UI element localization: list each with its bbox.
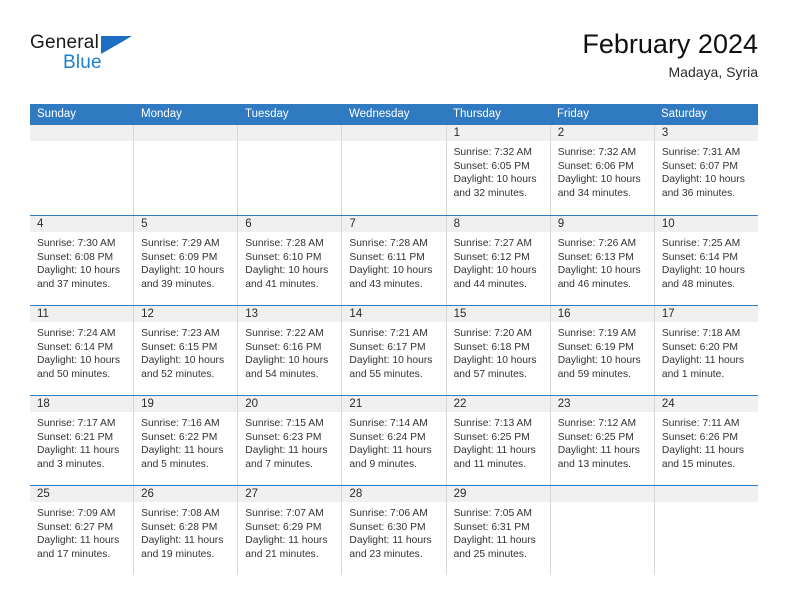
day-number: 7 xyxy=(342,216,445,233)
day-sun-info: Sunrise: 7:09 AMSunset: 6:27 PMDaylight:… xyxy=(30,503,133,561)
sunrise-text: Sunrise: 7:26 AM xyxy=(558,237,648,251)
title-block: February 2024 Madaya, Syria xyxy=(582,28,758,82)
day-number: 26 xyxy=(134,486,237,503)
day-number-band: 3 xyxy=(655,125,758,142)
day-cell[interactable]: 19Sunrise: 7:16 AMSunset: 6:22 PMDayligh… xyxy=(134,396,238,485)
day-number: 1 xyxy=(447,125,550,142)
logo-triangle-icon xyxy=(101,36,132,54)
day-cell[interactable]: 2Sunrise: 7:32 AMSunset: 6:06 PMDaylight… xyxy=(551,125,655,215)
daylight-text-line1: Daylight: 11 hours xyxy=(662,354,752,368)
day-number-band xyxy=(551,486,654,503)
day-number-band: 6 xyxy=(238,216,341,233)
sunrise-text: Sunrise: 7:22 AM xyxy=(245,327,335,341)
day-cell[interactable]: 16Sunrise: 7:19 AMSunset: 6:19 PMDayligh… xyxy=(551,306,655,395)
daylight-text-line1: Daylight: 10 hours xyxy=(558,264,648,278)
day-cell-empty xyxy=(134,125,238,215)
day-number: 28 xyxy=(342,486,445,503)
calendar-weeks: 1Sunrise: 7:32 AMSunset: 6:05 PMDaylight… xyxy=(30,125,758,575)
sunrise-text: Sunrise: 7:30 AM xyxy=(37,237,127,251)
day-sun-info: Sunrise: 7:22 AMSunset: 6:16 PMDaylight:… xyxy=(238,323,341,381)
day-number-band xyxy=(134,125,237,142)
day-number: 24 xyxy=(655,396,758,413)
sunset-text: Sunset: 6:17 PM xyxy=(349,341,439,355)
sunrise-text: Sunrise: 7:31 AM xyxy=(662,146,752,160)
sunrise-text: Sunrise: 7:15 AM xyxy=(245,417,335,431)
sunset-text: Sunset: 6:16 PM xyxy=(245,341,335,355)
day-cell-empty xyxy=(342,125,446,215)
daylight-text-line1: Daylight: 11 hours xyxy=(37,444,127,458)
daylight-text-line1: Daylight: 10 hours xyxy=(141,264,231,278)
daylight-text-line2: and 52 minutes. xyxy=(141,368,231,382)
sunset-text: Sunset: 6:24 PM xyxy=(349,431,439,445)
sunrise-text: Sunrise: 7:07 AM xyxy=(245,507,335,521)
day-number-band: 1 xyxy=(447,125,550,142)
calendar-week-row: 25Sunrise: 7:09 AMSunset: 6:27 PMDayligh… xyxy=(30,485,758,575)
daylight-text-line2: and 17 minutes. xyxy=(37,548,127,562)
sunrise-text: Sunrise: 7:18 AM xyxy=(662,327,752,341)
daylight-text-line1: Daylight: 11 hours xyxy=(558,444,648,458)
daylight-text-line2: and 46 minutes. xyxy=(558,278,648,292)
day-number: 19 xyxy=(134,396,237,413)
sunrise-text: Sunrise: 7:05 AM xyxy=(454,507,544,521)
daylight-text-line2: and 48 minutes. xyxy=(662,278,752,292)
daylight-text-line2: and 32 minutes. xyxy=(454,187,544,201)
daylight-text-line1: Daylight: 11 hours xyxy=(245,444,335,458)
daylight-text-line1: Daylight: 11 hours xyxy=(37,534,127,548)
day-number: 11 xyxy=(30,306,133,323)
day-sun-info: Sunrise: 7:15 AMSunset: 6:23 PMDaylight:… xyxy=(238,413,341,471)
day-number-band: 13 xyxy=(238,306,341,323)
day-sun-info: Sunrise: 7:28 AMSunset: 6:10 PMDaylight:… xyxy=(238,233,341,291)
day-cell[interactable]: 11Sunrise: 7:24 AMSunset: 6:14 PMDayligh… xyxy=(30,306,134,395)
day-cell[interactable]: 8Sunrise: 7:27 AMSunset: 6:12 PMDaylight… xyxy=(447,216,551,305)
daylight-text-line1: Daylight: 11 hours xyxy=(245,534,335,548)
sunrise-text: Sunrise: 7:28 AM xyxy=(349,237,439,251)
sunset-text: Sunset: 6:21 PM xyxy=(37,431,127,445)
daylight-text-line1: Daylight: 10 hours xyxy=(454,264,544,278)
day-number: 2 xyxy=(551,125,654,142)
day-cell[interactable]: 4Sunrise: 7:30 AMSunset: 6:08 PMDaylight… xyxy=(30,216,134,305)
day-cell[interactable]: 29Sunrise: 7:05 AMSunset: 6:31 PMDayligh… xyxy=(447,486,551,575)
day-number-band: 10 xyxy=(655,216,758,233)
sunset-text: Sunset: 6:06 PM xyxy=(558,160,648,174)
sunrise-text: Sunrise: 7:12 AM xyxy=(558,417,648,431)
daylight-text-line2: and 34 minutes. xyxy=(558,187,648,201)
sunrise-text: Sunrise: 7:14 AM xyxy=(349,417,439,431)
sunrise-text: Sunrise: 7:13 AM xyxy=(454,417,544,431)
day-number-band: 23 xyxy=(551,396,654,413)
logo-text-general: General xyxy=(30,32,99,54)
sunset-text: Sunset: 6:09 PM xyxy=(141,251,231,265)
day-number: 23 xyxy=(551,396,654,413)
sunrise-text: Sunrise: 7:08 AM xyxy=(141,507,231,521)
sunset-text: Sunset: 6:27 PM xyxy=(37,521,127,535)
daylight-text-line2: and 15 minutes. xyxy=(662,458,752,472)
daylight-text-line2: and 5 minutes. xyxy=(141,458,231,472)
sunset-text: Sunset: 6:30 PM xyxy=(349,521,439,535)
day-sun-info: Sunrise: 7:27 AMSunset: 6:12 PMDaylight:… xyxy=(447,233,550,291)
day-number-band: 26 xyxy=(134,486,237,503)
day-sun-info: Sunrise: 7:05 AMSunset: 6:31 PMDaylight:… xyxy=(447,503,550,561)
day-cell-empty xyxy=(238,125,342,215)
day-sun-info: Sunrise: 7:16 AMSunset: 6:22 PMDaylight:… xyxy=(134,413,237,471)
daylight-text-line1: Daylight: 11 hours xyxy=(141,534,231,548)
day-number-band: 20 xyxy=(238,396,341,413)
daylight-text-line2: and 36 minutes. xyxy=(662,187,752,201)
day-sun-info: Sunrise: 7:26 AMSunset: 6:13 PMDaylight:… xyxy=(551,233,654,291)
daylight-text-line2: and 37 minutes. xyxy=(37,278,127,292)
daylight-text-line1: Daylight: 10 hours xyxy=(245,354,335,368)
day-number: 18 xyxy=(30,396,133,413)
day-cell[interactable]: 22Sunrise: 7:13 AMSunset: 6:25 PMDayligh… xyxy=(447,396,551,485)
day-number-band: 12 xyxy=(134,306,237,323)
day-number: 4 xyxy=(30,216,133,233)
day-number-band: 29 xyxy=(447,486,550,503)
day-number: 25 xyxy=(30,486,133,503)
daylight-text-line1: Daylight: 10 hours xyxy=(141,354,231,368)
day-number: 5 xyxy=(134,216,237,233)
day-number-band: 24 xyxy=(655,396,758,413)
sunset-text: Sunset: 6:05 PM xyxy=(454,160,544,174)
daylight-text-line1: Daylight: 10 hours xyxy=(245,264,335,278)
daylight-text-line1: Daylight: 10 hours xyxy=(558,173,648,187)
day-cell[interactable]: 18Sunrise: 7:17 AMSunset: 6:21 PMDayligh… xyxy=(30,396,134,485)
day-cell[interactable]: 24Sunrise: 7:11 AMSunset: 6:26 PMDayligh… xyxy=(655,396,758,485)
daylight-text-line2: and 44 minutes. xyxy=(454,278,544,292)
day-number-band: 9 xyxy=(551,216,654,233)
logo-text-blue: Blue xyxy=(63,52,102,74)
day-cell[interactable]: 14Sunrise: 7:21 AMSunset: 6:17 PMDayligh… xyxy=(342,306,446,395)
day-sun-info: Sunrise: 7:07 AMSunset: 6:29 PMDaylight:… xyxy=(238,503,341,561)
day-cell[interactable]: 10Sunrise: 7:25 AMSunset: 6:14 PMDayligh… xyxy=(655,216,758,305)
day-sun-info: Sunrise: 7:11 AMSunset: 6:26 PMDaylight:… xyxy=(655,413,758,471)
day-number: 3 xyxy=(655,125,758,142)
daylight-text-line1: Daylight: 10 hours xyxy=(454,173,544,187)
weekday-header-wednesday: Wednesday xyxy=(342,104,446,125)
weekday-header-tuesday: Tuesday xyxy=(238,104,342,125)
sunset-text: Sunset: 6:23 PM xyxy=(245,431,335,445)
day-sun-info: Sunrise: 7:12 AMSunset: 6:25 PMDaylight:… xyxy=(551,413,654,471)
day-number: 9 xyxy=(551,216,654,233)
daylight-text-line2: and 50 minutes. xyxy=(37,368,127,382)
general-blue-logo[interactable]: General Blue xyxy=(30,32,160,84)
day-number: 21 xyxy=(342,396,445,413)
sunset-text: Sunset: 6:11 PM xyxy=(349,251,439,265)
daylight-text-line2: and 9 minutes. xyxy=(349,458,439,472)
daylight-text-line2: and 13 minutes. xyxy=(558,458,648,472)
day-cell[interactable]: 27Sunrise: 7:07 AMSunset: 6:29 PMDayligh… xyxy=(238,486,342,575)
day-sun-info: Sunrise: 7:30 AMSunset: 6:08 PMDaylight:… xyxy=(30,233,133,291)
day-number-band xyxy=(342,125,445,142)
day-cell[interactable]: 28Sunrise: 7:06 AMSunset: 6:30 PMDayligh… xyxy=(342,486,446,575)
day-number: 8 xyxy=(447,216,550,233)
day-cell[interactable]: 20Sunrise: 7:15 AMSunset: 6:23 PMDayligh… xyxy=(238,396,342,485)
sunset-text: Sunset: 6:14 PM xyxy=(37,341,127,355)
sunrise-text: Sunrise: 7:28 AM xyxy=(245,237,335,251)
day-cell[interactable]: 17Sunrise: 7:18 AMSunset: 6:20 PMDayligh… xyxy=(655,306,758,395)
day-sun-info: Sunrise: 7:31 AMSunset: 6:07 PMDaylight:… xyxy=(655,142,758,200)
day-cell[interactable]: 26Sunrise: 7:08 AMSunset: 6:28 PMDayligh… xyxy=(134,486,238,575)
sunrise-text: Sunrise: 7:19 AM xyxy=(558,327,648,341)
daylight-text-line2: and 19 minutes. xyxy=(141,548,231,562)
daylight-text-line1: Daylight: 10 hours xyxy=(558,354,648,368)
day-number-band: 7 xyxy=(342,216,445,233)
day-number: 12 xyxy=(134,306,237,323)
day-sun-info: Sunrise: 7:14 AMSunset: 6:24 PMDaylight:… xyxy=(342,413,445,471)
sunset-text: Sunset: 6:25 PM xyxy=(454,431,544,445)
daylight-text-line2: and 23 minutes. xyxy=(349,548,439,562)
day-sun-info: Sunrise: 7:24 AMSunset: 6:14 PMDaylight:… xyxy=(30,323,133,381)
daylight-text-line1: Daylight: 10 hours xyxy=(37,264,127,278)
day-sun-info: Sunrise: 7:32 AMSunset: 6:05 PMDaylight:… xyxy=(447,142,550,200)
day-number: 29 xyxy=(447,486,550,503)
day-number: 16 xyxy=(551,306,654,323)
sunrise-text: Sunrise: 7:09 AM xyxy=(37,507,127,521)
day-number-band: 19 xyxy=(134,396,237,413)
day-sun-info: Sunrise: 7:06 AMSunset: 6:30 PMDaylight:… xyxy=(342,503,445,561)
sunset-text: Sunset: 6:19 PM xyxy=(558,341,648,355)
sunset-text: Sunset: 6:25 PM xyxy=(558,431,648,445)
day-sun-info: Sunrise: 7:29 AMSunset: 6:09 PMDaylight:… xyxy=(134,233,237,291)
day-cell[interactable]: 13Sunrise: 7:22 AMSunset: 6:16 PMDayligh… xyxy=(238,306,342,395)
sunrise-text: Sunrise: 7:11 AM xyxy=(662,417,752,431)
day-sun-info: Sunrise: 7:28 AMSunset: 6:11 PMDaylight:… xyxy=(342,233,445,291)
sunset-text: Sunset: 6:07 PM xyxy=(662,160,752,174)
day-number-band: 21 xyxy=(342,396,445,413)
daylight-text-line2: and 1 minute. xyxy=(662,368,752,382)
day-number-band: 2 xyxy=(551,125,654,142)
sunset-text: Sunset: 6:15 PM xyxy=(141,341,231,355)
sunset-text: Sunset: 6:18 PM xyxy=(454,341,544,355)
day-sun-info: Sunrise: 7:18 AMSunset: 6:20 PMDaylight:… xyxy=(655,323,758,381)
sunrise-text: Sunrise: 7:25 AM xyxy=(662,237,752,251)
sunrise-text: Sunrise: 7:29 AM xyxy=(141,237,231,251)
weekday-header-monday: Monday xyxy=(134,104,238,125)
calendar-week-row: 1Sunrise: 7:32 AMSunset: 6:05 PMDaylight… xyxy=(30,125,758,215)
day-number: 20 xyxy=(238,396,341,413)
day-number-band: 16 xyxy=(551,306,654,323)
daylight-text-line2: and 11 minutes. xyxy=(454,458,544,472)
calendar-week-row: 11Sunrise: 7:24 AMSunset: 6:14 PMDayligh… xyxy=(30,305,758,395)
sunrise-text: Sunrise: 7:16 AM xyxy=(141,417,231,431)
day-number-band: 8 xyxy=(447,216,550,233)
daylight-text-line1: Daylight: 11 hours xyxy=(349,534,439,548)
day-number: 15 xyxy=(447,306,550,323)
daylight-text-line1: Daylight: 10 hours xyxy=(349,354,439,368)
daylight-text-line2: and 55 minutes. xyxy=(349,368,439,382)
calendar-grid: Sunday Monday Tuesday Wednesday Thursday… xyxy=(30,104,758,575)
daylight-text-line2: and 3 minutes. xyxy=(37,458,127,472)
day-sun-info: Sunrise: 7:32 AMSunset: 6:06 PMDaylight:… xyxy=(551,142,654,200)
day-sun-info: Sunrise: 7:13 AMSunset: 6:25 PMDaylight:… xyxy=(447,413,550,471)
weekday-header-sunday: Sunday xyxy=(30,104,134,125)
daylight-text-line2: and 54 minutes. xyxy=(245,368,335,382)
daylight-text-line2: and 41 minutes. xyxy=(245,278,335,292)
sunset-text: Sunset: 6:29 PM xyxy=(245,521,335,535)
day-number: 17 xyxy=(655,306,758,323)
calendar-page: General Blue February 2024 Madaya, Syria… xyxy=(0,0,792,612)
page-title: February 2024 xyxy=(582,28,758,60)
day-number-band: 18 xyxy=(30,396,133,413)
sunrise-text: Sunrise: 7:21 AM xyxy=(349,327,439,341)
sunset-text: Sunset: 6:08 PM xyxy=(37,251,127,265)
daylight-text-line2: and 43 minutes. xyxy=(349,278,439,292)
day-number-band: 5 xyxy=(134,216,237,233)
sunrise-text: Sunrise: 7:06 AM xyxy=(349,507,439,521)
daylight-text-line2: and 59 minutes. xyxy=(558,368,648,382)
day-cell[interactable]: 6Sunrise: 7:28 AMSunset: 6:10 PMDaylight… xyxy=(238,216,342,305)
day-cell[interactable]: 5Sunrise: 7:29 AMSunset: 6:09 PMDaylight… xyxy=(134,216,238,305)
day-number: 13 xyxy=(238,306,341,323)
day-number-band xyxy=(238,125,341,142)
sunrise-text: Sunrise: 7:23 AM xyxy=(141,327,231,341)
sunset-text: Sunset: 6:12 PM xyxy=(454,251,544,265)
sunset-text: Sunset: 6:13 PM xyxy=(558,251,648,265)
daylight-text-line2: and 7 minutes. xyxy=(245,458,335,472)
day-cell[interactable]: 25Sunrise: 7:09 AMSunset: 6:27 PMDayligh… xyxy=(30,486,134,575)
day-number-band: 15 xyxy=(447,306,550,323)
day-cell[interactable]: 3Sunrise: 7:31 AMSunset: 6:07 PMDaylight… xyxy=(655,125,758,215)
sunrise-text: Sunrise: 7:32 AM xyxy=(454,146,544,160)
day-sun-info: Sunrise: 7:21 AMSunset: 6:17 PMDaylight:… xyxy=(342,323,445,381)
sunrise-text: Sunrise: 7:27 AM xyxy=(454,237,544,251)
day-number-band xyxy=(655,486,758,503)
day-sun-info: Sunrise: 7:23 AMSunset: 6:15 PMDaylight:… xyxy=(134,323,237,381)
sunrise-text: Sunrise: 7:17 AM xyxy=(37,417,127,431)
day-sun-info: Sunrise: 7:20 AMSunset: 6:18 PMDaylight:… xyxy=(447,323,550,381)
day-number: 22 xyxy=(447,396,550,413)
sunset-text: Sunset: 6:14 PM xyxy=(662,251,752,265)
weekday-header-saturday: Saturday xyxy=(654,104,758,125)
day-number-band: 17 xyxy=(655,306,758,323)
sunrise-text: Sunrise: 7:32 AM xyxy=(558,146,648,160)
day-number-band: 28 xyxy=(342,486,445,503)
day-number-band: 22 xyxy=(447,396,550,413)
day-cell-empty xyxy=(30,125,134,215)
day-cell[interactable]: 23Sunrise: 7:12 AMSunset: 6:25 PMDayligh… xyxy=(551,396,655,485)
day-sun-info: Sunrise: 7:25 AMSunset: 6:14 PMDaylight:… xyxy=(655,233,758,291)
daylight-text-line2: and 25 minutes. xyxy=(454,548,544,562)
daylight-text-line1: Daylight: 10 hours xyxy=(37,354,127,368)
day-number-band xyxy=(30,125,133,142)
daylight-text-line1: Daylight: 10 hours xyxy=(662,264,752,278)
daylight-text-line1: Daylight: 10 hours xyxy=(662,173,752,187)
daylight-text-line1: Daylight: 11 hours xyxy=(349,444,439,458)
calendar-week-row: 4Sunrise: 7:30 AMSunset: 6:08 PMDaylight… xyxy=(30,215,758,305)
daylight-text-line1: Daylight: 11 hours xyxy=(454,444,544,458)
sunset-text: Sunset: 6:28 PM xyxy=(141,521,231,535)
sunset-text: Sunset: 6:31 PM xyxy=(454,521,544,535)
day-sun-info: Sunrise: 7:08 AMSunset: 6:28 PMDaylight:… xyxy=(134,503,237,561)
day-number-band: 27 xyxy=(238,486,341,503)
day-cell[interactable]: 21Sunrise: 7:14 AMSunset: 6:24 PMDayligh… xyxy=(342,396,446,485)
sunset-text: Sunset: 6:22 PM xyxy=(141,431,231,445)
day-cell[interactable]: 15Sunrise: 7:20 AMSunset: 6:18 PMDayligh… xyxy=(447,306,551,395)
daylight-text-line2: and 39 minutes. xyxy=(141,278,231,292)
day-number: 27 xyxy=(238,486,341,503)
daylight-text-line1: Daylight: 11 hours xyxy=(454,534,544,548)
sunset-text: Sunset: 6:26 PM xyxy=(662,431,752,445)
day-number: 14 xyxy=(342,306,445,323)
day-cell[interactable]: 12Sunrise: 7:23 AMSunset: 6:15 PMDayligh… xyxy=(134,306,238,395)
sunset-text: Sunset: 6:20 PM xyxy=(662,341,752,355)
calendar-week-row: 18Sunrise: 7:17 AMSunset: 6:21 PMDayligh… xyxy=(30,395,758,485)
day-cell-empty xyxy=(551,486,655,575)
daylight-text-line1: Daylight: 10 hours xyxy=(454,354,544,368)
daylight-text-line2: and 21 minutes. xyxy=(245,548,335,562)
daylight-text-line1: Daylight: 11 hours xyxy=(141,444,231,458)
sunset-text: Sunset: 6:10 PM xyxy=(245,251,335,265)
day-sun-info: Sunrise: 7:19 AMSunset: 6:19 PMDaylight:… xyxy=(551,323,654,381)
daylight-text-line1: Daylight: 10 hours xyxy=(349,264,439,278)
page-header: General Blue February 2024 Madaya, Syria xyxy=(30,28,758,96)
day-number: 10 xyxy=(655,216,758,233)
day-number-band: 14 xyxy=(342,306,445,323)
sunrise-text: Sunrise: 7:24 AM xyxy=(37,327,127,341)
weekday-header-row: Sunday Monday Tuesday Wednesday Thursday… xyxy=(30,104,758,125)
day-cell[interactable]: 7Sunrise: 7:28 AMSunset: 6:11 PMDaylight… xyxy=(342,216,446,305)
weekday-header-friday: Friday xyxy=(550,104,654,125)
day-cell[interactable]: 1Sunrise: 7:32 AMSunset: 6:05 PMDaylight… xyxy=(447,125,551,215)
location-subtitle: Madaya, Syria xyxy=(582,62,758,82)
day-number: 6 xyxy=(238,216,341,233)
weekday-header-thursday: Thursday xyxy=(446,104,550,125)
day-number-band: 4 xyxy=(30,216,133,233)
day-number-band: 25 xyxy=(30,486,133,503)
day-cell[interactable]: 9Sunrise: 7:26 AMSunset: 6:13 PMDaylight… xyxy=(551,216,655,305)
daylight-text-line2: and 57 minutes. xyxy=(454,368,544,382)
day-number-band: 11 xyxy=(30,306,133,323)
sunrise-text: Sunrise: 7:20 AM xyxy=(454,327,544,341)
day-sun-info: Sunrise: 7:17 AMSunset: 6:21 PMDaylight:… xyxy=(30,413,133,471)
day-cell-empty xyxy=(655,486,758,575)
daylight-text-line1: Daylight: 11 hours xyxy=(662,444,752,458)
